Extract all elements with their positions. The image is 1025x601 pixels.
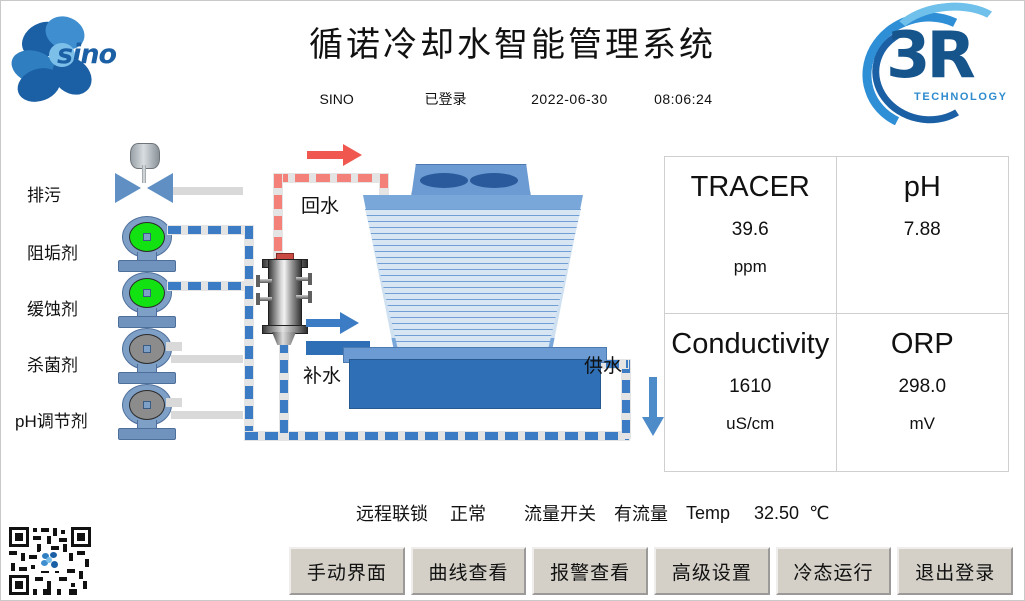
cold-run-button[interactable]: 冷态运行	[776, 547, 892, 595]
fan-blade-right-icon	[470, 173, 518, 188]
vessel-nozzle-end-icon	[308, 291, 312, 303]
system-time: 08:06:24	[633, 91, 733, 107]
cooling-tower-fan-housing	[411, 164, 531, 198]
heat-exchanger[interactable]	[260, 249, 308, 345]
label-makeup-water: 补水	[303, 361, 341, 388]
label-biocide: 杀菌剂	[27, 351, 78, 376]
remote-interlock-value: 正常	[450, 500, 486, 526]
fan-blade-left-icon	[420, 173, 468, 188]
measurement-label: Conductivity	[671, 326, 829, 362]
measurement-label: TRACER	[691, 169, 810, 205]
measurement-value: 7.88	[904, 219, 941, 241]
measurement-value: 1610	[729, 376, 771, 398]
pump-ph-adjuster[interactable]	[116, 384, 176, 440]
flow-switch-label: 流量开关	[524, 500, 596, 526]
makeup-flow-arrow	[306, 319, 342, 327]
measurement-label: ORP	[891, 326, 954, 362]
measurement-unit: ppm	[734, 257, 767, 277]
temperature-value: 32.50	[754, 503, 799, 524]
measurement-panel: TRACER 39.6 ppm pH 7.88 Conductivity 161…	[664, 156, 1009, 472]
measurement-cell-orp[interactable]: ORP 298.0 mV	[837, 314, 1009, 471]
threer-logo: 3R TECHNOLOGY	[858, 3, 1018, 121]
remote-interlock-label: 远程联锁	[356, 500, 428, 526]
loop-pipe-bottom	[245, 432, 629, 440]
vessel-nozzle-icon	[258, 297, 272, 301]
pump-center-dot-icon	[143, 233, 151, 241]
vessel-nozzle-end-icon	[256, 275, 260, 287]
pipe-blowdown	[171, 187, 243, 195]
feed-line-antiscalant	[168, 226, 252, 234]
login-status: 已登录	[386, 89, 506, 109]
manual-interface-button[interactable]: 手动界面	[289, 547, 405, 595]
process-diagram: 排污 阻垢剂 缓蚀剂 杀菌剂 pH调节剂	[1, 129, 661, 489]
pump-base-icon	[118, 372, 176, 384]
pump-outlet-icon	[166, 398, 182, 407]
temperature-unit: ℃	[809, 503, 829, 524]
vessel-nozzle-icon	[258, 279, 272, 283]
trend-view-button[interactable]: 曲线查看	[411, 547, 527, 595]
advanced-settings-button[interactable]: 高级设置	[654, 547, 770, 595]
cooling-tower-fill-pack	[365, 209, 581, 347]
makeup-flow-arrow-head	[340, 312, 359, 334]
valve-left-body-icon	[115, 173, 141, 203]
qr-center-logo	[40, 551, 60, 571]
pipe-biocide	[171, 355, 243, 363]
vessel-nozzle-end-icon	[308, 273, 312, 285]
return-pipe-right-vertical	[380, 174, 388, 198]
qr-code[interactable]	[7, 525, 93, 597]
valve-right-body-icon	[147, 173, 173, 203]
logout-button[interactable]: 退出登录	[897, 547, 1013, 595]
supply-flow-arrow	[649, 377, 657, 419]
return-flow-arrow-head	[343, 144, 362, 166]
user-name: SINO	[292, 91, 382, 107]
pump-biocide[interactable]	[116, 328, 176, 384]
cooling-tower-basin	[349, 359, 601, 409]
header: sino 循诺冷却水智能管理系统 SINO 已登录 2022-06-30 08:…	[1, 1, 1024, 129]
blowdown-valve[interactable]	[1, 129, 67, 191]
system-date: 2022-06-30	[509, 91, 629, 107]
measurement-cell-conductivity[interactable]: Conductivity 1610 uS/cm	[665, 314, 837, 471]
hmi-screen: sino 循诺冷却水智能管理系统 SINO 已登录 2022-06-30 08:…	[0, 0, 1025, 601]
loop-pipe-left-vertical	[245, 226, 253, 440]
measurement-cell-ph[interactable]: pH 7.88	[837, 157, 1009, 314]
alarm-view-button[interactable]: 报警查看	[532, 547, 648, 595]
return-pipe-top	[274, 174, 388, 182]
measurement-label: pH	[904, 169, 941, 205]
pump-base-icon	[118, 260, 176, 272]
pump-base-icon	[118, 316, 176, 328]
valve-stem-icon	[142, 165, 146, 183]
threer-tagline: TECHNOLOGY	[914, 91, 1008, 103]
flow-switch-value: 有流量	[614, 500, 668, 526]
button-bar: 手动界面 曲线查看 报警查看 高级设置 冷态运行 退出登录	[289, 547, 1013, 595]
return-flow-arrow	[307, 151, 345, 159]
measurement-unit: mV	[910, 414, 936, 434]
label-ph-adjuster: pH调节剂	[15, 407, 88, 432]
measurement-value: 298.0	[898, 376, 946, 398]
vessel-cone-icon	[272, 332, 296, 345]
measurement-value: 39.6	[732, 219, 769, 241]
supply-flow-arrow-head	[642, 417, 664, 436]
measurement-cell-tracer[interactable]: TRACER 39.6 ppm	[665, 157, 837, 314]
label-antiscalant: 阻垢剂	[27, 239, 78, 264]
label-return-water: 回水	[301, 191, 339, 218]
pump-center-dot-icon	[143, 401, 151, 409]
loop-pipe-right-vertical	[622, 360, 630, 438]
vessel-nozzle-end-icon	[256, 293, 260, 305]
label-corrosion-inhibitor: 缓蚀剂	[27, 295, 78, 320]
label-supply-water: 供水	[584, 351, 622, 378]
measurement-unit: uS/cm	[726, 414, 774, 434]
temperature-label: Temp	[686, 503, 730, 524]
status-bar: 远程联锁 正常 流量开关 有流量 Temp 32.50 ℃	[356, 498, 1016, 528]
pump-center-dot-icon	[143, 289, 151, 297]
pump-outlet-icon	[166, 342, 182, 351]
pump-center-dot-icon	[143, 345, 151, 353]
pipe-ph	[171, 411, 243, 419]
threer-wordmark: 3R	[886, 19, 972, 93]
feed-line-corrosion-inhibitor	[168, 282, 252, 290]
pump-base-icon	[118, 428, 176, 440]
